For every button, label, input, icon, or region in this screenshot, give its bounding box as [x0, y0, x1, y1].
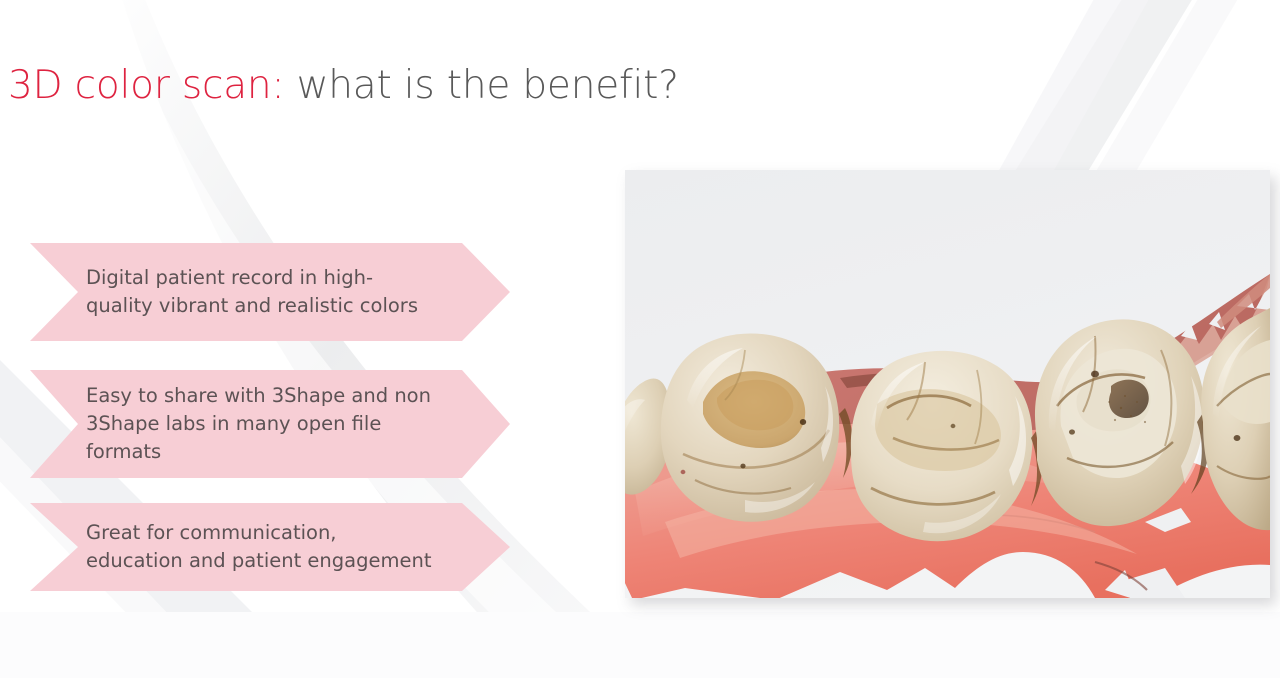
benefit-chevron-2: Easy to share with 3Shape and non 3Shape…: [30, 370, 510, 478]
page-title-accent: 3D color scan:: [8, 63, 284, 108]
slide-canvas: 3D color scan: what is the benefit? Digi…: [0, 0, 1280, 678]
benefit-chevron-3-label: Great for communication, education and p…: [30, 519, 462, 574]
benefit-chevron-1: Digital patient record in high- quality …: [30, 243, 510, 341]
benefit-chevron-3: Great for communication, education and p…: [30, 503, 510, 591]
benefit-chevron-2-label: Easy to share with 3Shape and non 3Shape…: [30, 382, 461, 465]
dental-scan-image: [625, 170, 1270, 598]
page-title: 3D color scan: what is the benefit?: [8, 66, 679, 105]
page-title-rest: what is the benefit?: [284, 63, 678, 108]
benefit-chevron-1-label: Digital patient record in high- quality …: [30, 264, 448, 319]
